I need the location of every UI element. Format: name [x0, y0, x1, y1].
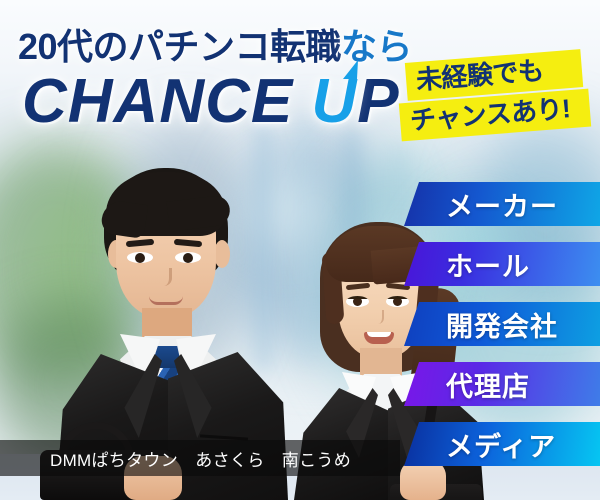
- man-eye-left: [127, 252, 153, 263]
- woman-nose: [374, 310, 384, 324]
- woman-mouth: [364, 332, 394, 344]
- man-ear-right: [214, 240, 230, 268]
- logo-letter-p: P: [357, 67, 399, 136]
- category-button-media[interactable]: メディア: [404, 422, 600, 466]
- category-label: メーカー: [446, 185, 558, 224]
- logo-text-chance: CHANCE: [22, 67, 311, 136]
- man-hair-front: [106, 172, 226, 236]
- caption-text: DMMぱちタウン あさくら 南こうめ: [50, 446, 351, 471]
- category-label: 開発会社: [446, 305, 558, 344]
- caption-bar: DMMぱちタウン あさくら 南こうめ: [0, 440, 400, 476]
- category-label: メディア: [446, 425, 556, 464]
- logo-chance-up: CHANCE UP: [22, 66, 400, 137]
- category-button-agency[interactable]: 代理店: [404, 362, 600, 406]
- man-eye-right: [175, 252, 201, 263]
- logo-letter-u: U: [311, 66, 357, 137]
- category-button-development-company[interactable]: 開発会社: [404, 302, 600, 346]
- category-list: メーカー ホール 開発会社 代理店 メディア: [404, 182, 600, 482]
- headline-prefix: 20代のパチンコ転職: [18, 26, 341, 67]
- woman-eye-left: [346, 296, 369, 307]
- category-label: 代理店: [446, 365, 530, 404]
- advertisement-banner[interactable]: 20代のパチンコ転職なら CHANCE UP 未経験でも チャンスあり! メーカ…: [0, 0, 600, 500]
- category-label: ホール: [446, 245, 530, 284]
- highlight-badge: 未経験でも チャンスあり!: [400, 56, 596, 133]
- man-mouth: [149, 296, 183, 305]
- category-button-hall[interactable]: ホール: [404, 242, 600, 286]
- category-button-maker[interactable]: メーカー: [404, 182, 600, 226]
